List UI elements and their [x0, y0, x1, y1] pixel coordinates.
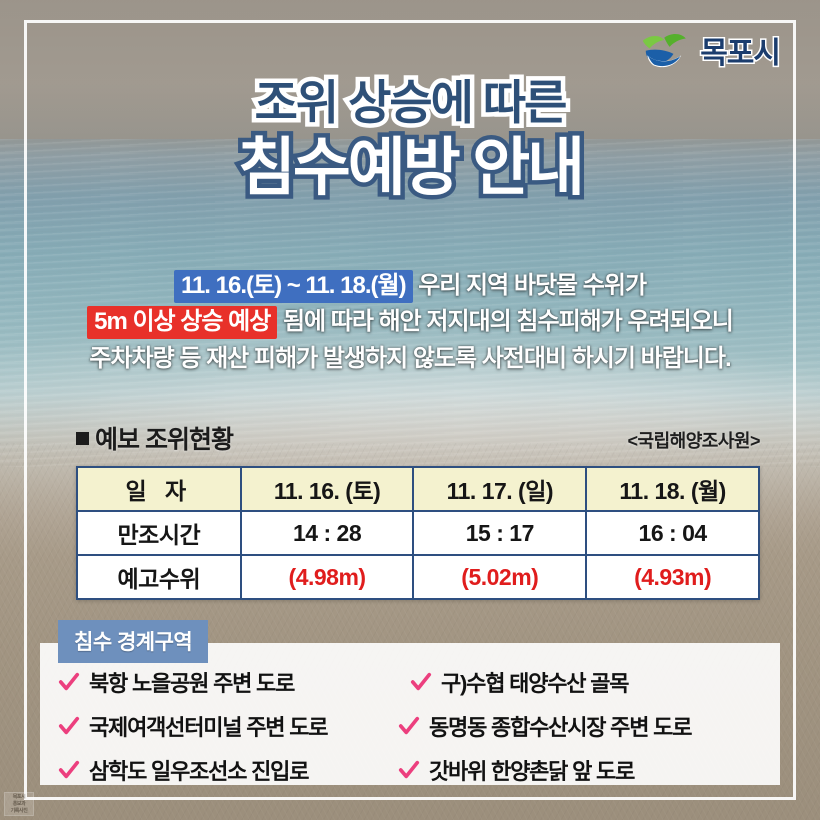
lead-row-1-text: 우리 지역 바닷물 수위가	[413, 272, 646, 299]
check-icon	[410, 671, 432, 693]
lead-row-2-text: 됨에 따라 해안 저지대의 침수피해가 우려되오니	[277, 308, 733, 335]
tide-section-header: 예보 조위현황 <국립해양조사원>	[76, 420, 760, 456]
lead-date-range-highlight: 11. 16.(토) ~ 11. 18.(월)	[174, 270, 413, 303]
list-item-label: 북항 노을공원 주변 도로	[89, 666, 294, 698]
table-cell-forecast-level-0: (4.98m)	[241, 555, 414, 599]
lead-row-1: 11. 16.(토) ~ 11. 18.(월) 우리 지역 바닷물 수위가	[40, 268, 780, 304]
table-cell-forecast-level-1: (5.02m)	[413, 555, 586, 599]
table-header-row: 일 자 11. 16. (토) 11. 17. (일) 11. 18. (월)	[77, 467, 759, 511]
list-item-label: 삼학도 일우조선소 진입로	[89, 754, 308, 786]
check-icon	[58, 671, 80, 693]
list-item: 북항 노을공원 주변 도로	[58, 663, 398, 701]
table-cell-high-tide-time-0: 14 : 28	[241, 511, 414, 555]
city-logo: 목포시	[638, 28, 780, 72]
list-item-label: 구)수협 태양수산 골목	[441, 666, 628, 698]
square-bullet-icon	[76, 432, 89, 445]
tide-section-title-text: 예보 조위현황	[95, 420, 233, 456]
table-row-label-high-tide-time: 만조시간	[77, 511, 241, 555]
list-item: 삼학도 일우조선소 진입로	[58, 751, 398, 789]
tide-forecast-section: 예보 조위현황 <국립해양조사원> 일 자 11. 16. (토) 11. 17…	[76, 420, 760, 600]
list-item-label: 국제여객선터미널 주변 도로	[89, 710, 327, 742]
city-logo-text: 목포시	[700, 28, 780, 72]
table-header-cell-0: 일 자	[77, 467, 241, 511]
tide-section-title: 예보 조위현황	[76, 420, 233, 456]
lead-level-highlight: 5m 이상 상승 예상	[87, 306, 277, 339]
title-line-2: 침수예방 안내	[0, 135, 820, 202]
lead-row-2: 5m 이상 상승 예상 됨에 따라 해안 저지대의 침수피해가 우려되오니	[40, 304, 780, 340]
list-item: 국제여객선터미널 주변 도로	[58, 707, 398, 745]
list-item: 구)수협 태양수산 골목	[398, 663, 766, 701]
watermark-line-2: 홍보과	[13, 801, 26, 807]
check-icon	[398, 715, 420, 737]
poster-title-block: 조위 상승에 따른 침수예방 안내	[0, 78, 820, 202]
flood-warning-zones-list: 북항 노을공원 주변 도로 구)수협 태양수산 골목 국제여객선터미널 주변 도…	[40, 663, 780, 789]
list-item-label: 동명동 종합수산시장 주변 도로	[429, 710, 691, 742]
list-item: 동명동 종합수산시장 주변 도로	[398, 707, 766, 745]
table-cell-high-tide-time-2: 16 : 04	[586, 511, 759, 555]
table-row: 예고수위 (4.98m) (5.02m) (4.93m)	[77, 555, 759, 599]
list-item-label: 갓바위 한양촌닭 앞 도로	[429, 754, 634, 786]
check-icon	[58, 715, 80, 737]
list-item: 갓바위 한양촌닭 앞 도로	[398, 751, 766, 789]
watermark-line-3: 기록사진	[11, 808, 28, 814]
title-line-1: 조위 상승에 따른	[0, 78, 820, 129]
watermark-line-1: 목포시	[13, 794, 26, 800]
flood-warning-zones-badge: 침수 경계구역	[58, 620, 208, 663]
table-header-cell-2: 11. 17. (일)	[413, 467, 586, 511]
check-icon	[58, 759, 80, 781]
table-cell-forecast-level-2: (4.93m)	[586, 555, 759, 599]
tide-section-source: <국립해양조사원>	[628, 427, 760, 456]
poster-root: 목포시 조위 상승에 따른 침수예방 안내 11. 16.(토) ~ 11. 1…	[0, 0, 820, 820]
mokpo-city-bird-logo-icon	[638, 30, 692, 70]
table-row-label-forecast-level: 예고수위	[77, 555, 241, 599]
tide-forecast-table: 일 자 11. 16. (토) 11. 17. (일) 11. 18. (월) …	[76, 466, 760, 600]
table-cell-high-tide-time-1: 15 : 17	[413, 511, 586, 555]
lead-row-3: 주차차량 등 재산 피해가 발생하지 않도록 사전대비 하시기 바랍니다.	[40, 341, 780, 377]
lead-paragraph: 11. 16.(토) ~ 11. 18.(월) 우리 지역 바닷물 수위가 5m…	[40, 268, 780, 377]
table-header-cell-3: 11. 18. (월)	[586, 467, 759, 511]
watermark-stamp: 목포시 홍보과 기록사진	[4, 792, 34, 816]
table-header-cell-1: 11. 16. (토)	[241, 467, 414, 511]
check-icon	[398, 759, 420, 781]
table-row: 만조시간 14 : 28 15 : 17 16 : 04	[77, 511, 759, 555]
